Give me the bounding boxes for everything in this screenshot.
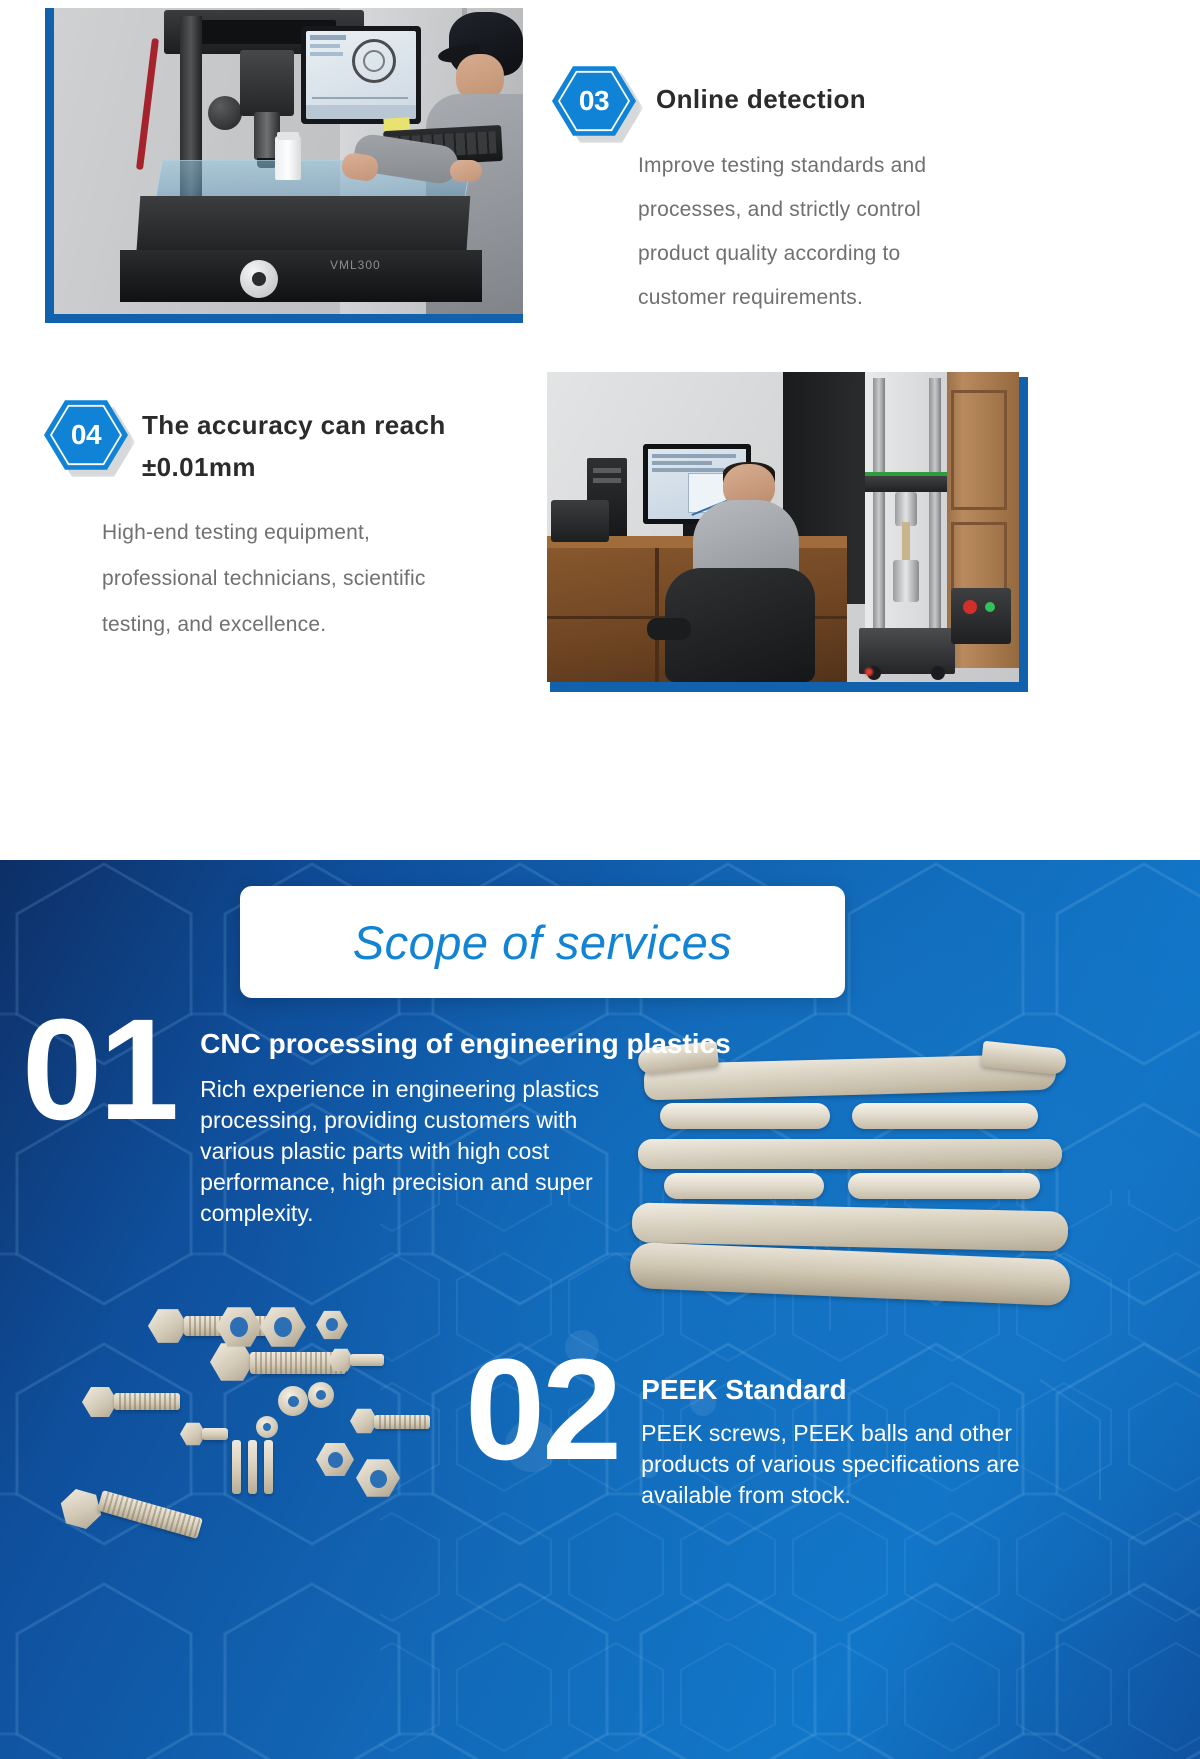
service-01-title: CNC processing of engineering plastics bbox=[200, 1024, 731, 1064]
feature-photo-03: VML300 bbox=[45, 8, 523, 323]
scope-title-card: Scope of services bbox=[240, 886, 845, 998]
service-02-number: 02 bbox=[465, 1350, 619, 1511]
feature-04-body: High-end testing equipment, professional… bbox=[44, 488, 474, 648]
feature-03-header: 03 Online detection bbox=[552, 64, 1172, 138]
scope-title-text: Scope of services bbox=[353, 915, 732, 970]
service-item-01: 01 CNC processing of engineering plastic… bbox=[12, 1010, 662, 1229]
feature-04-number: 04 bbox=[44, 398, 128, 472]
service-02-title: PEEK Standard bbox=[641, 1370, 1061, 1410]
hexagon-badge-icon: 03 bbox=[552, 64, 636, 138]
service-01-number: 01 bbox=[12, 1010, 176, 1229]
machine-model-label: VML300 bbox=[330, 258, 381, 272]
service-02-body: PEEK screws, PEEK balls and other produc… bbox=[641, 1410, 1061, 1511]
feature-04-title: The accuracy can reach ±0.01mm bbox=[128, 398, 488, 488]
feature-03-title: Online detection bbox=[636, 64, 866, 120]
photo-04-image bbox=[547, 372, 1019, 682]
scope-of-services-section: Scope of services 01 CNC processing of e… bbox=[0, 860, 1200, 1759]
feature-03-number: 03 bbox=[552, 64, 636, 138]
hexagon-badge-icon: 04 bbox=[44, 398, 128, 472]
feature-photo-04 bbox=[547, 372, 1028, 692]
peek-fasteners-image bbox=[20, 1290, 460, 1610]
service-item-02: 02 PEEK Standard PEEK screws, PEEK balls… bbox=[465, 1350, 1085, 1511]
service-01-body: Rich experience in engineering plastics … bbox=[200, 1064, 640, 1229]
feature-block-04: 04 The accuracy can reach ±0.01mm High-e… bbox=[44, 398, 534, 648]
feature-block-03: 03 Online detection Improve testing stan… bbox=[552, 64, 1172, 320]
feature-03-body: Improve testing standards and processes,… bbox=[552, 138, 952, 320]
features-section: VML300 03 Online detection Improve testi… bbox=[0, 0, 1200, 860]
feature-04-header: 04 The accuracy can reach ±0.01mm bbox=[44, 398, 534, 488]
photo-03-image: VML300 bbox=[54, 8, 523, 314]
